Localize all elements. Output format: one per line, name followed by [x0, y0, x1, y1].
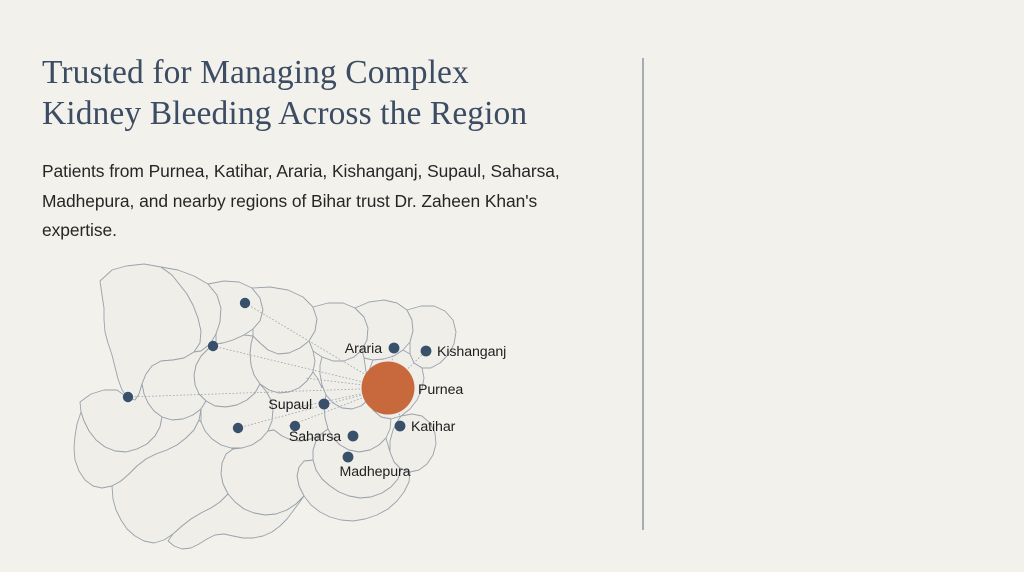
left-content-column: Trusted for Managing Complex Kidney Blee…	[42, 52, 632, 246]
city-label-supaul: Supaul	[268, 397, 312, 413]
page-subtext: Patients from Purnea, Katihar, Araria, K…	[42, 134, 607, 246]
page-title: Trusted for Managing Complex Kidney Blee…	[42, 52, 632, 134]
city-dot-supaul[interactable]	[319, 399, 330, 410]
city-label-katihar: Katihar	[411, 419, 456, 435]
city-dot-araria[interactable]	[389, 343, 400, 354]
slide-canvas: Trusted for Managing Complex Kidney Blee…	[0, 0, 1024, 572]
city-dot-kishanganj[interactable]	[421, 346, 432, 357]
hub-circle-purnea[interactable]	[362, 362, 415, 415]
city-label-kishanganj: Kishanganj	[437, 344, 506, 360]
vertical-divider	[642, 58, 644, 530]
city-label-madhepura: Madhepura	[340, 464, 411, 480]
city-dot-katihar[interactable]	[395, 421, 406, 432]
city-label-araria: Araria	[345, 341, 382, 357]
city-dot-madhepura[interactable]	[343, 452, 354, 463]
city-label-purnea: Purnea	[418, 382, 463, 398]
city-dot-saharsa[interactable]	[348, 431, 359, 442]
bihar-region-map: Araria Kishanganj Purnea Katihar Supaul	[60, 248, 580, 568]
city-label-saharsa: Saharsa	[289, 429, 341, 445]
